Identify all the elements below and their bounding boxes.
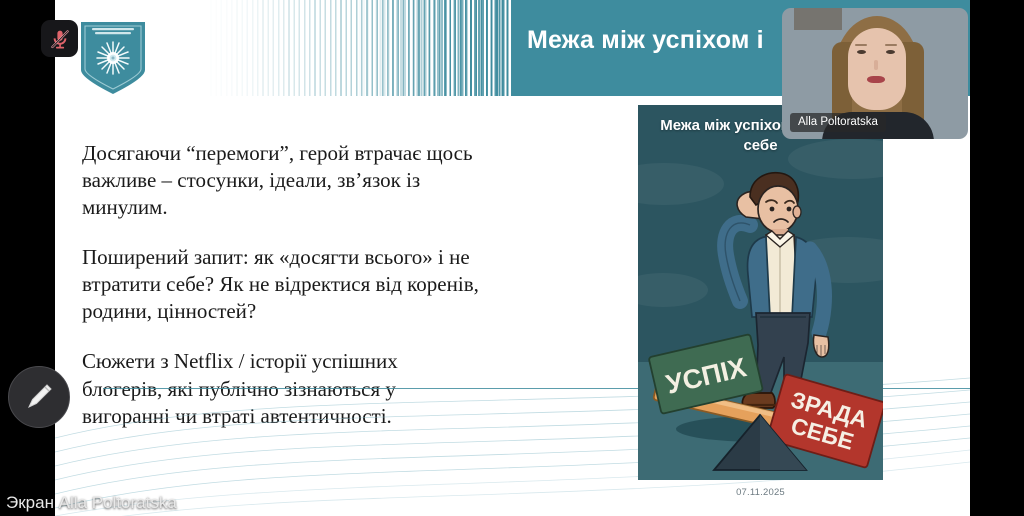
slide-title: Межа між успіхом і xyxy=(527,26,764,55)
right-gutter xyxy=(970,0,1024,516)
participant-name-label: Alla Poltoratska xyxy=(790,113,886,132)
microphone-muted-icon[interactable] xyxy=(41,20,78,57)
eyebrow-right xyxy=(885,44,897,46)
nose xyxy=(874,60,878,70)
pencil-icon xyxy=(23,381,55,413)
slide-illustration: Межа між успіхом і зрадою себе xyxy=(638,105,883,480)
annotate-pencil-button[interactable] xyxy=(8,366,70,428)
slide-paragraph: Поширений запит: як «досягти всього» і н… xyxy=(82,244,482,325)
wall-frame xyxy=(794,8,842,30)
eye-left xyxy=(857,50,866,54)
slide-paragraph: Досягаючи “перемоги”, герой втрачає щось… xyxy=(82,140,482,221)
decorative-stripes-dense xyxy=(355,0,513,96)
university-crest-icon xyxy=(79,20,147,96)
eyebrow-left xyxy=(855,44,867,46)
slide-date: 07.11.2025 xyxy=(638,487,883,498)
man-balancing-on-seesaw-illustration: УСПІХ ЗРАДА СЕБЕ xyxy=(638,105,883,480)
screen-share-status: Экран Alla Poltoratska xyxy=(6,493,177,513)
mouth xyxy=(867,76,885,83)
participant-video-tile[interactable]: Alla Poltoratska xyxy=(782,8,968,139)
screen-share-viewport: Межа між успіхом і xyxy=(0,0,1024,516)
left-gutter xyxy=(0,0,55,516)
eye-right xyxy=(886,50,895,54)
